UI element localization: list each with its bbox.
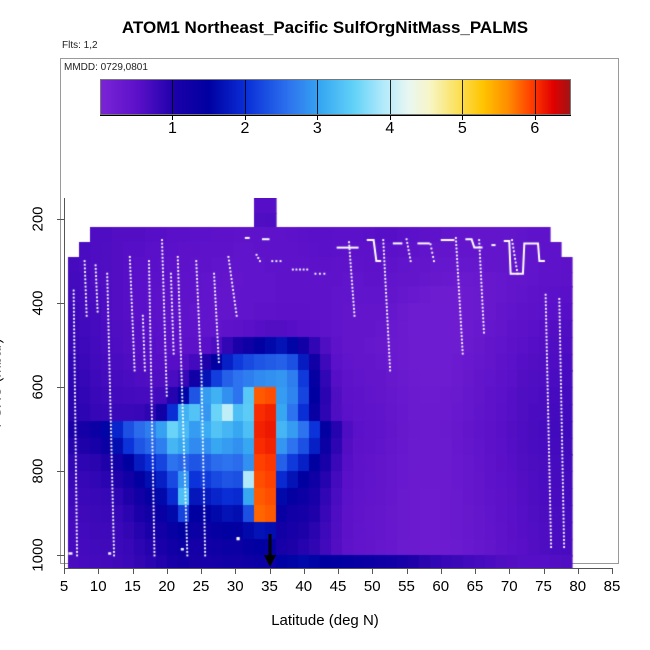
x-axis-tick-label: 85	[604, 578, 621, 595]
colorbar-tickmark	[317, 80, 318, 114]
y-axis-tick-label: 800	[30, 459, 47, 484]
x-axis-tick	[304, 568, 305, 574]
y-axis-tick-label: 200	[30, 207, 47, 232]
x-axis-tick-label: 75	[535, 578, 552, 595]
colorbar-tickmark	[535, 80, 536, 114]
x-axis-tick	[235, 568, 236, 574]
colorbar-tick-label: 4	[385, 120, 394, 138]
x-axis-tick-label: 55	[398, 578, 415, 595]
x-axis-tick-label: 50	[364, 578, 381, 595]
y-axis-tick	[57, 303, 64, 304]
x-axis-tick-label: 15	[124, 578, 141, 595]
x-axis-tick	[407, 568, 408, 574]
x-axis-tick	[544, 568, 545, 574]
flights-annotation: Flts: 1,2	[62, 40, 98, 51]
x-axis-tick-label: 80	[569, 578, 586, 595]
x-axis-tick	[64, 568, 65, 574]
y-axis-title: PSXC (mbar)	[0, 338, 5, 427]
x-axis-tick-label: 5	[60, 578, 68, 595]
x-axis-tick-label: 60	[432, 578, 449, 595]
x-axis-tick-label: 70	[501, 578, 518, 595]
x-axis-tick	[441, 568, 442, 574]
colorbar-tick-label: 1	[168, 120, 177, 138]
x-axis-tick-label: 35	[261, 578, 278, 595]
x-axis-tick	[133, 568, 134, 574]
colorbar-tick-label: 5	[458, 120, 467, 138]
x-axis-tick-label: 40	[295, 578, 312, 595]
colorbar-axis	[100, 115, 571, 116]
x-axis-tick	[167, 568, 168, 574]
x-axis-tick	[612, 568, 613, 574]
x-axis-tick	[509, 568, 510, 574]
x-axis-tick-label: 30	[227, 578, 244, 595]
x-axis-tick	[475, 568, 476, 574]
y-axis-tick-label: 400	[30, 291, 47, 316]
colorbar-tickmark	[390, 80, 391, 114]
x-axis-tick-label: 45	[330, 578, 347, 595]
heatmap-canvas	[64, 198, 612, 568]
x-axis-tick	[372, 568, 373, 574]
y-axis-tick	[57, 555, 64, 556]
y-axis-tick	[57, 387, 64, 388]
colorbar-tick-label: 3	[313, 120, 322, 138]
colorbar-gradient	[100, 79, 571, 115]
y-axis-line	[64, 198, 65, 568]
x-axis-tick	[270, 568, 271, 574]
x-axis-tick-label: 10	[90, 578, 107, 595]
y-axis-tick-label: 600	[30, 375, 47, 400]
colorbar-tick-label: 2	[240, 120, 249, 138]
heatmap-plot	[64, 198, 612, 568]
x-axis-tick-label: 65	[467, 578, 484, 595]
colorbar-tick-label: 6	[530, 120, 539, 138]
colorbar: 123456	[100, 79, 571, 115]
x-axis-tick	[578, 568, 579, 574]
page-title: ATOM1 Northeast_Pacific SulfOrgNitMass_P…	[0, 18, 650, 38]
colorbar-tickmark	[172, 80, 173, 114]
y-axis-tick-label: 1000	[30, 539, 47, 572]
y-axis-tick	[57, 471, 64, 472]
colorbar-tickmark	[462, 80, 463, 114]
mmdd-annotation: MMDD: 0729,0801	[64, 62, 148, 73]
x-axis-tick-label: 25	[193, 578, 210, 595]
x-axis-tick	[98, 568, 99, 574]
colorbar-tickmark	[245, 80, 246, 114]
latitude-pointer-arrow	[261, 534, 279, 568]
x-axis-tick	[338, 568, 339, 574]
x-axis-tick	[201, 568, 202, 574]
y-axis-tick	[57, 219, 64, 220]
x-axis-title: Latitude (deg N)	[0, 612, 650, 629]
x-axis-tick-label: 20	[158, 578, 175, 595]
figure-root: ATOM1 Northeast_Pacific SulfOrgNitMass_P…	[0, 0, 650, 650]
